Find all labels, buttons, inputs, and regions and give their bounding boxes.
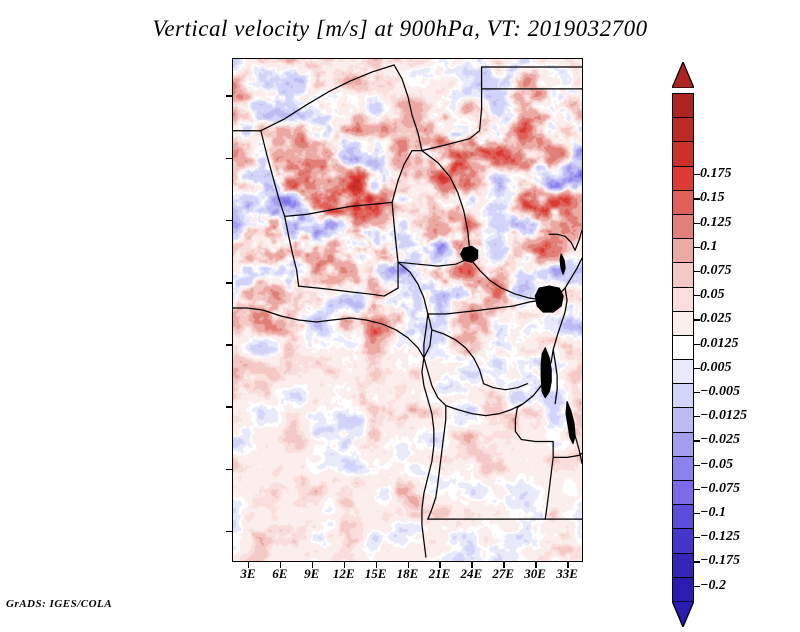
colorbar-tick-label: 0.005 [700, 360, 732, 376]
grads-attribution: GrADS: IGES/COLA [6, 598, 112, 610]
colorbar-tick-mark [694, 319, 700, 320]
colorbar-tick-mark [694, 513, 700, 514]
colorbar-tick-label: −0.0125 [700, 408, 747, 424]
latitude-tick-mark [226, 158, 232, 160]
colorbar-swatch [672, 214, 694, 238]
colorbar-swatch [672, 553, 694, 577]
colorbar-swatch [672, 117, 694, 141]
latitude-tick-mark [226, 406, 232, 408]
chart-title: Vertical velocity [m/s] at 900hPa, VT: 2… [0, 16, 800, 42]
colorbar-swatch [672, 528, 694, 552]
longitude-tick-label: 33E [545, 566, 589, 582]
latitude-tick-mark [226, 344, 232, 346]
colorbar-tick-mark [694, 392, 700, 393]
colorbar-top-arrow [672, 62, 694, 88]
colorbar-tick-mark [694, 223, 700, 224]
colorbar-tick-mark [694, 368, 700, 369]
colorbar-tick-label: 0.125 [700, 215, 732, 231]
colorbar-swatch [672, 432, 694, 456]
colorbar-tick-mark [694, 247, 700, 248]
colorbar-tick-label: 0.0125 [700, 336, 739, 352]
colorbar-swatch [672, 311, 694, 335]
latitude-tick-mark [226, 95, 232, 97]
colorbar-tick-label: −0.05 [700, 457, 733, 473]
colorbar-tick-mark [694, 440, 700, 441]
colorbar-tick-mark [694, 586, 700, 587]
longitude-tick-mark [344, 562, 346, 568]
colorbar-tick-label: 0.15 [700, 190, 725, 206]
colorbar-swatch [672, 141, 694, 165]
colorbar-swatch [672, 577, 694, 601]
colorbar-swatch [672, 407, 694, 431]
colorbar-tick-mark [694, 295, 700, 296]
longitude-tick-mark [535, 562, 537, 568]
colorbar-tick-mark [694, 465, 700, 466]
colorbar-swatch [672, 335, 694, 359]
latitude-tick-mark [226, 469, 232, 471]
country-borders-overlay [233, 59, 582, 561]
colorbar-tick-label: 0.025 [700, 311, 732, 327]
colorbar-swatch [672, 287, 694, 311]
longitude-tick-mark [248, 562, 250, 568]
colorbar-tick-mark [694, 174, 700, 175]
latitude-tick-mark [226, 220, 232, 222]
longitude-tick-mark [280, 562, 282, 568]
colorbar-tick-mark [694, 271, 700, 272]
colorbar-tick-label: −0.175 [700, 553, 740, 569]
map-plot-area [232, 58, 583, 562]
longitude-tick-mark [503, 562, 505, 568]
longitude-tick-mark [471, 562, 473, 568]
colorbar-tick-label: −0.2 [700, 578, 726, 594]
colorbar-swatch [672, 383, 694, 407]
colorbar-swatch [672, 456, 694, 480]
colorbar-tick-label: 0.175 [700, 166, 732, 182]
colorbar-swatch [672, 262, 694, 286]
colorbar-tick-label: −0.125 [700, 529, 740, 545]
colorbar-tick-mark [694, 344, 700, 345]
colorbar-swatch [672, 480, 694, 504]
latitude-tick-mark [226, 531, 232, 533]
longitude-tick-mark [312, 562, 314, 568]
colorbar-tick-label: 0.05 [700, 287, 725, 303]
colorbar-swatch [672, 190, 694, 214]
colorbar-tick-label: −0.1 [700, 505, 726, 521]
colorbar-tick-mark [694, 537, 700, 538]
longitude-tick-mark [376, 562, 378, 568]
colorbar-tick-label: −0.075 [700, 481, 740, 497]
longitude-tick-mark [408, 562, 410, 568]
colorbar: 0.1750.150.1250.10.0750.050.0250.01250.0… [672, 62, 694, 632]
longitude-tick-mark [567, 562, 569, 568]
colorbar-swatch [672, 238, 694, 262]
colorbar-tick-label: −0.005 [700, 384, 740, 400]
colorbar-bottom-arrow [672, 601, 694, 627]
colorbar-tick-mark [694, 489, 700, 490]
colorbar-tick-label: −0.025 [700, 432, 740, 448]
colorbar-tick-mark [694, 561, 700, 562]
latitude-tick-mark [226, 282, 232, 284]
longitude-tick-mark [439, 562, 441, 568]
colorbar-tick-label: 0.1 [700, 239, 718, 255]
colorbar-swatch [672, 166, 694, 190]
colorbar-swatch [672, 359, 694, 383]
colorbar-tick-mark [694, 416, 700, 417]
colorbar-tick-mark [694, 198, 700, 199]
colorbar-swatch [672, 93, 694, 117]
colorbar-swatch [672, 504, 694, 528]
colorbar-tick-label: 0.075 [700, 263, 732, 279]
